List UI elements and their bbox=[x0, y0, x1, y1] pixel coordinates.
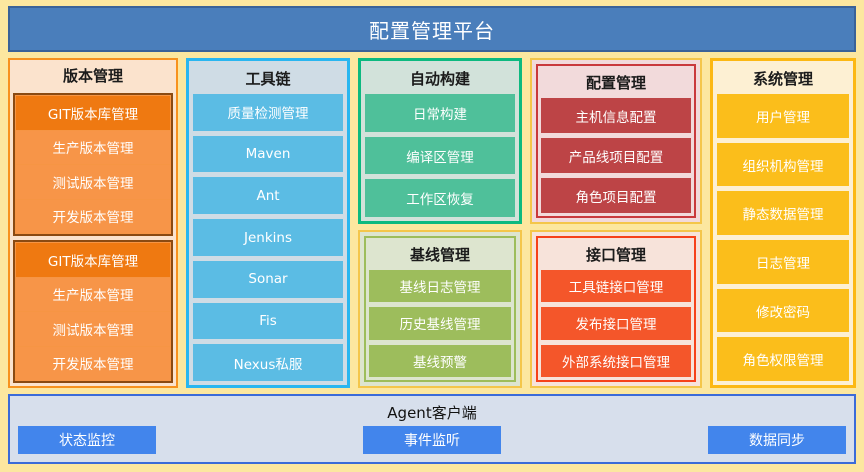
version-block-1: GIT版本库管理 生产版本管理 测试版本管理 开发版本管理 bbox=[13, 93, 173, 236]
item-change-password[interactable]: 修改密码 bbox=[717, 289, 849, 333]
item-static-data-management[interactable]: 静态数据管理 bbox=[717, 191, 849, 235]
module-columns: 版本管理 GIT版本库管理 生产版本管理 测试版本管理 开发版本管理 GIT版本… bbox=[8, 58, 856, 388]
group-version-management: 版本管理 GIT版本库管理 生产版本管理 测试版本管理 开发版本管理 GIT版本… bbox=[8, 58, 178, 388]
group-config-management: 配置管理 主机信息配置 产品线项目配置 角色项目配置 bbox=[530, 58, 702, 224]
item-log-management[interactable]: 日志管理 bbox=[717, 240, 849, 284]
column-toolchain: 工具链 质量检测管理 Maven Ant Jenkins Sonar Fis N… bbox=[186, 58, 350, 388]
item-role-permission-management[interactable]: 角色权限管理 bbox=[717, 337, 849, 381]
item-fis[interactable]: Fis bbox=[193, 303, 343, 340]
item-sonar[interactable]: Sonar bbox=[193, 261, 343, 298]
item-compile-zone-management[interactable]: 编译区管理 bbox=[365, 137, 515, 175]
item-release-interface-management[interactable]: 发布接口管理 bbox=[541, 307, 691, 339]
column-system-management: 系统管理 用户管理 组织机构管理 静态数据管理 日志管理 修改密码 角色权限管理 bbox=[710, 58, 856, 388]
item-prod-version-management-2[interactable]: 生产版本管理 bbox=[16, 278, 170, 312]
agent-client-section: Agent客户端 状态监控 事件监听 数据同步 bbox=[8, 394, 856, 464]
item-test-version-management-1[interactable]: 测试版本管理 bbox=[16, 165, 170, 199]
item-organization-management[interactable]: 组织机构管理 bbox=[717, 143, 849, 187]
agent-client-items: 状态监控 事件监听 数据同步 bbox=[18, 426, 846, 454]
item-dev-version-management-1[interactable]: 开发版本管理 bbox=[16, 200, 170, 234]
platform-header: 配置管理平台 bbox=[8, 6, 856, 52]
interface-items: 工具链接口管理 发布接口管理 外部系统接口管理 bbox=[541, 270, 691, 377]
group-title-interface-management: 接口管理 bbox=[541, 241, 691, 270]
item-jenkins[interactable]: Jenkins bbox=[193, 219, 343, 256]
group-title-version-management: 版本管理 bbox=[13, 63, 173, 89]
item-event-listening[interactable]: 事件监听 bbox=[363, 426, 501, 454]
group-title-baseline-management: 基线管理 bbox=[369, 241, 511, 270]
item-product-line-project-config[interactable]: 产品线项目配置 bbox=[541, 138, 691, 173]
group-title-system-management: 系统管理 bbox=[717, 65, 849, 94]
column-config-and-interface: 配置管理 主机信息配置 产品线项目配置 角色项目配置 接口管理 工具链接口管理 … bbox=[530, 58, 702, 388]
group-title-toolchain: 工具链 bbox=[193, 65, 343, 94]
group-title-auto-build: 自动构建 bbox=[365, 65, 515, 94]
toolchain-items: 质量检测管理 Maven Ant Jenkins Sonar Fis Nexus… bbox=[193, 94, 343, 381]
item-user-management[interactable]: 用户管理 bbox=[717, 94, 849, 138]
item-maven[interactable]: Maven bbox=[193, 136, 343, 173]
item-host-info-config[interactable]: 主机信息配置 bbox=[541, 98, 691, 133]
item-toolchain-interface-management[interactable]: 工具链接口管理 bbox=[541, 270, 691, 302]
system-management-items: 用户管理 组织机构管理 静态数据管理 日志管理 修改密码 角色权限管理 bbox=[717, 94, 849, 381]
group-auto-build: 自动构建 日常构建 编译区管理 工作区恢复 bbox=[358, 58, 522, 224]
item-workspace-restore[interactable]: 工作区恢复 bbox=[365, 179, 515, 217]
item-git-repo-management-2[interactable]: GIT版本库管理 bbox=[16, 243, 170, 277]
item-quality-inspection-management[interactable]: 质量检测管理 bbox=[193, 94, 343, 131]
platform-diagram: 配置管理平台 版本管理 GIT版本库管理 生产版本管理 测试版本管理 开发版本管… bbox=[0, 0, 864, 472]
item-nexus-private-repo[interactable]: Nexus私服 bbox=[193, 344, 343, 381]
item-status-monitoring[interactable]: 状态监控 bbox=[18, 426, 156, 454]
page-title: 配置管理平台 bbox=[369, 15, 495, 44]
item-role-project-config[interactable]: 角色项目配置 bbox=[541, 178, 691, 213]
group-title-config-management: 配置管理 bbox=[541, 69, 691, 98]
item-baseline-alert[interactable]: 基线预警 bbox=[369, 345, 511, 377]
group-baseline-management: 基线管理 基线日志管理 历史基线管理 基线预警 bbox=[358, 230, 522, 388]
group-config-inner: 配置管理 主机信息配置 产品线项目配置 角色项目配置 bbox=[536, 64, 696, 218]
group-system-management: 系统管理 用户管理 组织机构管理 静态数据管理 日志管理 修改密码 角色权限管理 bbox=[710, 58, 856, 388]
agent-client-title: Agent客户端 bbox=[18, 400, 846, 426]
item-history-baseline-management[interactable]: 历史基线管理 bbox=[369, 307, 511, 339]
item-external-system-interface-management[interactable]: 外部系统接口管理 bbox=[541, 345, 691, 377]
group-baseline-inner: 基线管理 基线日志管理 历史基线管理 基线预警 bbox=[364, 236, 516, 382]
item-ant[interactable]: Ant bbox=[193, 177, 343, 214]
version-block-2: GIT版本库管理 生产版本管理 测试版本管理 开发版本管理 bbox=[13, 240, 173, 383]
item-test-version-management-2[interactable]: 测试版本管理 bbox=[16, 312, 170, 346]
auto-build-items: 日常构建 编译区管理 工作区恢复 bbox=[365, 94, 515, 217]
item-data-sync[interactable]: 数据同步 bbox=[708, 426, 846, 454]
item-dev-version-management-2[interactable]: 开发版本管理 bbox=[16, 347, 170, 381]
item-baseline-log-management[interactable]: 基线日志管理 bbox=[369, 270, 511, 302]
group-toolchain: 工具链 质量检测管理 Maven Ant Jenkins Sonar Fis N… bbox=[186, 58, 350, 388]
group-interface-inner: 接口管理 工具链接口管理 发布接口管理 外部系统接口管理 bbox=[536, 236, 696, 382]
column-version-management: 版本管理 GIT版本库管理 生产版本管理 测试版本管理 开发版本管理 GIT版本… bbox=[8, 58, 178, 388]
config-management-items: 主机信息配置 产品线项目配置 角色项目配置 bbox=[541, 98, 691, 213]
group-interface-management: 接口管理 工具链接口管理 发布接口管理 外部系统接口管理 bbox=[530, 230, 702, 388]
item-daily-build[interactable]: 日常构建 bbox=[365, 94, 515, 132]
item-prod-version-management-1[interactable]: 生产版本管理 bbox=[16, 131, 170, 165]
item-git-repo-management-1[interactable]: GIT版本库管理 bbox=[16, 96, 170, 130]
baseline-items: 基线日志管理 历史基线管理 基线预警 bbox=[369, 270, 511, 377]
column-build-and-baseline: 自动构建 日常构建 编译区管理 工作区恢复 基线管理 基线日志管理 历史基线管理… bbox=[358, 58, 522, 388]
